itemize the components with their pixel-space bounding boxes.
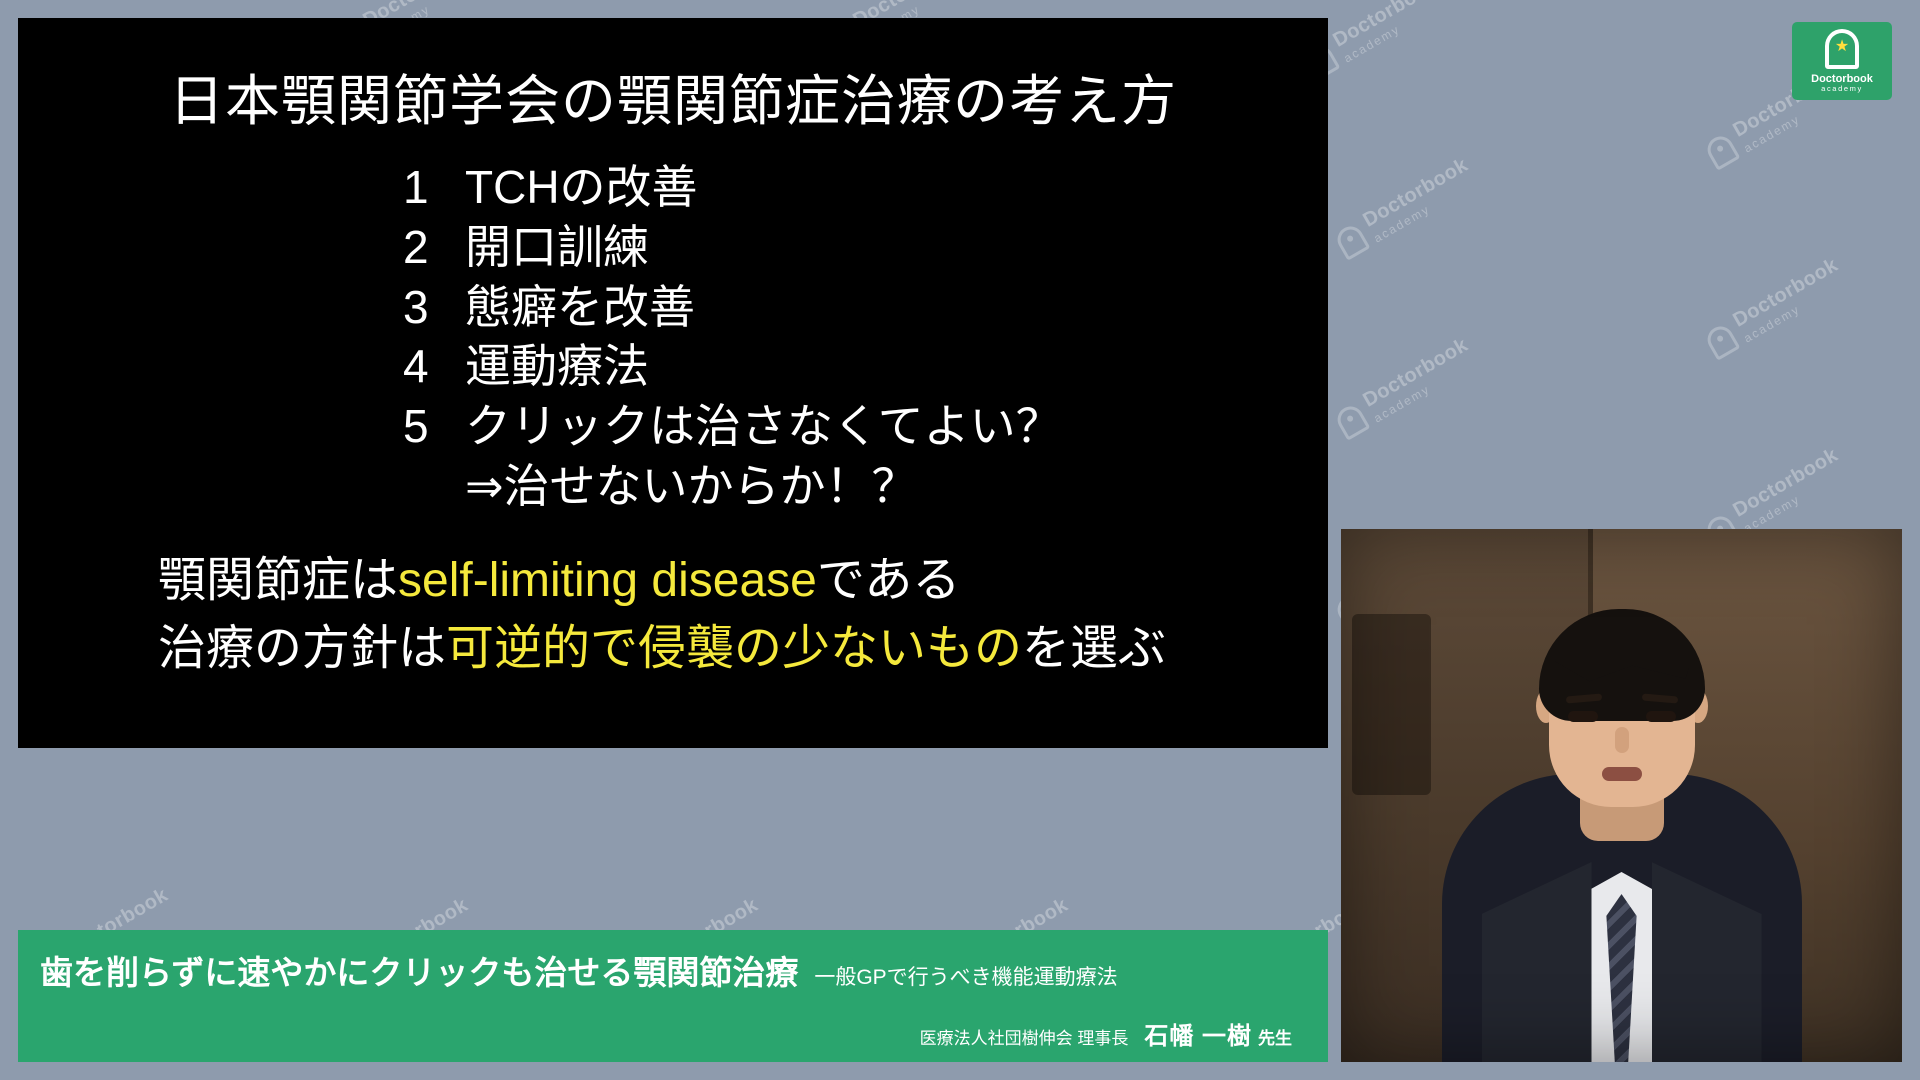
watermark-line2: academy [1371,382,1432,425]
slide-title: 日本顎関節学会の顎関節症治療の考え方 [18,56,1328,136]
bullet-number: 4 [403,337,465,397]
banner-main-row: 歯を削らずに速やかにクリックも治せる顎関節治療 一般GPで行うべき機能運動療法 [40,946,1306,994]
bullet-text: 運動療法 [465,337,649,397]
closing-line-1-highlight: self-limiting disease [398,554,817,607]
bullet-number: 2 [403,218,465,278]
presentation-slide: 日本顎関節学会の顎関節症治療の考え方 1 TCHの改善 2 開口訓練 3 態癖を… [18,18,1328,748]
watermark-line1: Doctorbook [1729,444,1842,522]
watermark-text: Doctorbook academy [1730,255,1851,347]
closing-line-2-post: を選ぶ [1022,622,1166,675]
closing-line-1-post: である [817,554,961,607]
watermark-line1: Doctorbook [1359,334,1472,412]
star-icon: ★ [1835,39,1849,55]
presenter-webcam-feed[interactable] [1341,529,1902,1062]
bullet-sub-note: ⇒治せないからか！？ [403,457,1328,517]
list-item: 4 運動療法 [403,337,1328,397]
lecture-title: 歯を削らずに速やかにクリックも治せる顎関節治療 [40,946,798,994]
bullet-text: 開口訓練 [465,218,649,278]
bullet-text: クリックは治さなくてよい？ [465,397,1062,457]
watermark-line2: academy [1741,112,1802,155]
lecture-title-banner: 歯を削らずに速やかにクリックも治せる顎関節治療 一般GPで行うべき機能運動療法 … [18,930,1328,1062]
list-item: 2 開口訓練 [403,218,1328,278]
closing-line-2: 治療の方針は可逆的で侵襲の少ないものを選ぶ [158,615,1328,683]
video-vignette [1341,529,1902,1062]
watermark: Doctorbook academy [1330,335,1480,444]
watermark-line1: Doctorbook [1329,0,1442,52]
closing-statements: 顎関節症はself-limiting diseaseである 治療の方針は可逆的で… [18,547,1328,683]
watermark-logo-icon [1703,131,1741,170]
list-item: 3 態癖を改善 [403,278,1328,338]
watermark-line2: academy [1371,202,1432,245]
lecture-subtitle: 一般GPで行うべき機能運動療法 [814,961,1117,991]
closing-line-2-pre: 治療の方針は [158,622,446,675]
presenter-credit: 医療法人社団樹伸会 理事長 石幡 一樹 先生 [40,1016,1306,1051]
watermark-text: Doctorbook academy [1330,0,1451,67]
watermark-logo-icon [1703,321,1741,360]
watermark-line1: Doctorbook [1359,154,1472,232]
presenter-honorific: 先生 [1258,1024,1292,1049]
logo-line2: academy [1821,85,1863,93]
watermark-text: Doctorbook academy [1730,445,1851,537]
doctorbook-academy-logo: ★ Doctorbook academy [1792,22,1892,100]
bullet-text: TCHの改善 [465,158,698,218]
watermark-line2: academy [1741,302,1802,345]
bullet-number: 3 [403,278,465,338]
bullet-number: 5 [403,397,465,457]
list-item: 1 TCHの改善 [403,158,1328,218]
watermark-line2: academy [1341,22,1402,65]
presenter-affiliation: 医療法人社団樹伸会 理事長 [920,1024,1129,1049]
closing-line-1-pre: 顎関節症は [158,554,398,607]
watermark-text: Doctorbook academy [1360,335,1481,427]
list-item: 5 クリックは治さなくてよい？ [403,397,1328,457]
bullet-list: 1 TCHの改善 2 開口訓練 3 態癖を改善 4 運動療法 5 クリックは治さ… [18,158,1328,517]
bullet-number: 1 [403,158,465,218]
watermark-logo-icon [1333,221,1371,260]
closing-line-1: 顎関節症はself-limiting diseaseである [158,547,1328,615]
watermark-text: Doctorbook academy [1360,155,1481,247]
watermark: Doctorbook academy [1330,155,1480,264]
watermark-logo-icon [1333,401,1371,440]
watermark-line1: Doctorbook [1729,254,1842,332]
bullet-text: 態癖を改善 [465,278,695,338]
presenter-name: 石幡 一樹 [1144,1016,1252,1051]
closing-line-2-highlight: 可逆的で侵襲の少ないもの [446,622,1022,675]
book-arch-icon: ★ [1825,29,1859,69]
watermark: Doctorbook academy [1700,255,1850,364]
